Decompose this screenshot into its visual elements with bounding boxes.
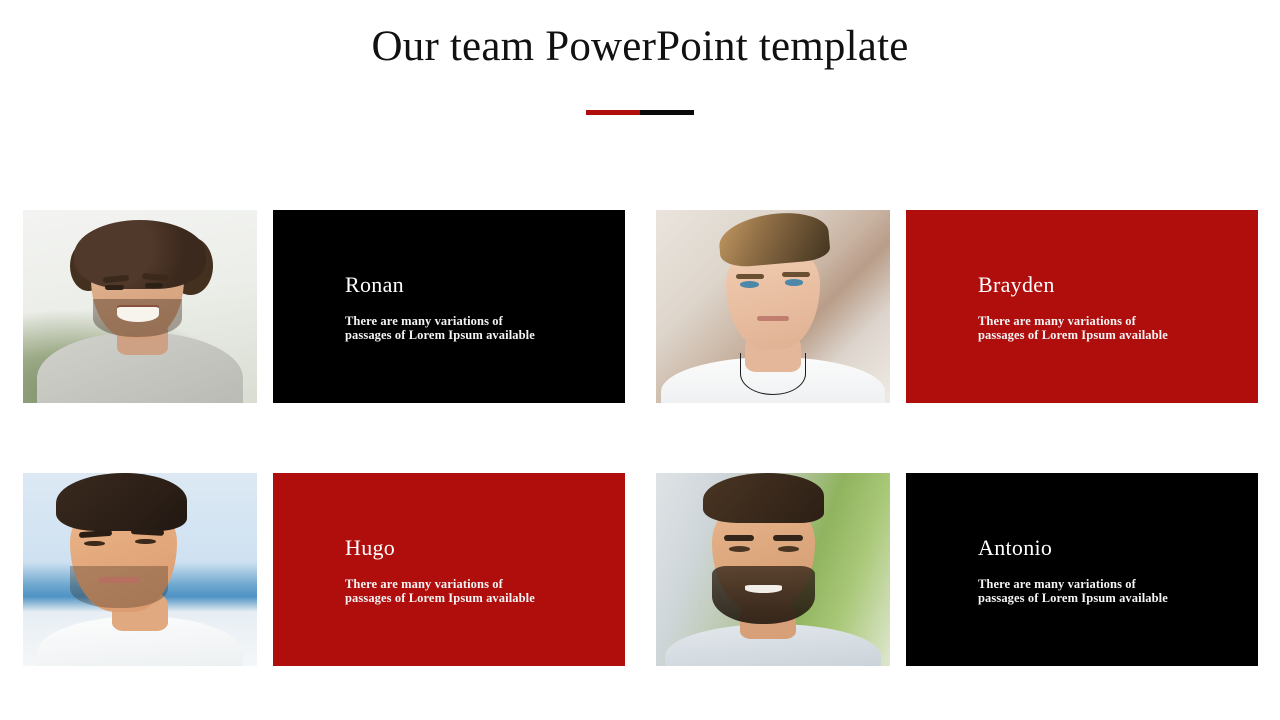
member-description: There are many variations of passages of… xyxy=(978,314,1258,342)
member-name: Hugo xyxy=(345,535,625,561)
member-description: There are many variations of passages of… xyxy=(345,314,625,342)
member-description: There are many variations of passages of… xyxy=(345,577,625,605)
portrait-illustration xyxy=(656,473,890,666)
portrait-illustration xyxy=(23,210,257,403)
portrait-illustration xyxy=(23,473,257,666)
page-title: Our team PowerPoint template xyxy=(0,20,1280,74)
team-member-card[interactable]: Ronan There are many variations of passa… xyxy=(23,210,625,403)
member-photo xyxy=(23,210,257,403)
team-member-card[interactable]: Brayden There are many variations of pas… xyxy=(656,210,1258,403)
member-name: Brayden xyxy=(978,272,1258,298)
member-photo xyxy=(23,473,257,666)
divider-segment-black xyxy=(640,110,694,115)
member-info-panel: Brayden There are many variations of pas… xyxy=(906,210,1258,403)
member-info-panel: Antonio There are many variations of pas… xyxy=(906,473,1258,666)
member-name: Antonio xyxy=(978,535,1258,561)
member-description: There are many variations of passages of… xyxy=(978,577,1258,605)
portrait-illustration xyxy=(656,210,890,403)
slide-header: Our team PowerPoint template xyxy=(0,0,1280,170)
title-divider xyxy=(586,110,694,115)
member-info-panel: Ronan There are many variations of passa… xyxy=(273,210,625,403)
member-name: Ronan xyxy=(345,272,625,298)
team-grid: Ronan There are many variations of passa… xyxy=(0,210,1280,666)
team-member-card[interactable]: Hugo There are many variations of passag… xyxy=(23,473,625,666)
member-photo xyxy=(656,473,890,666)
team-member-card[interactable]: Antonio There are many variations of pas… xyxy=(656,473,1258,666)
member-info-panel: Hugo There are many variations of passag… xyxy=(273,473,625,666)
member-photo xyxy=(656,210,890,403)
divider-segment-red xyxy=(586,110,640,115)
